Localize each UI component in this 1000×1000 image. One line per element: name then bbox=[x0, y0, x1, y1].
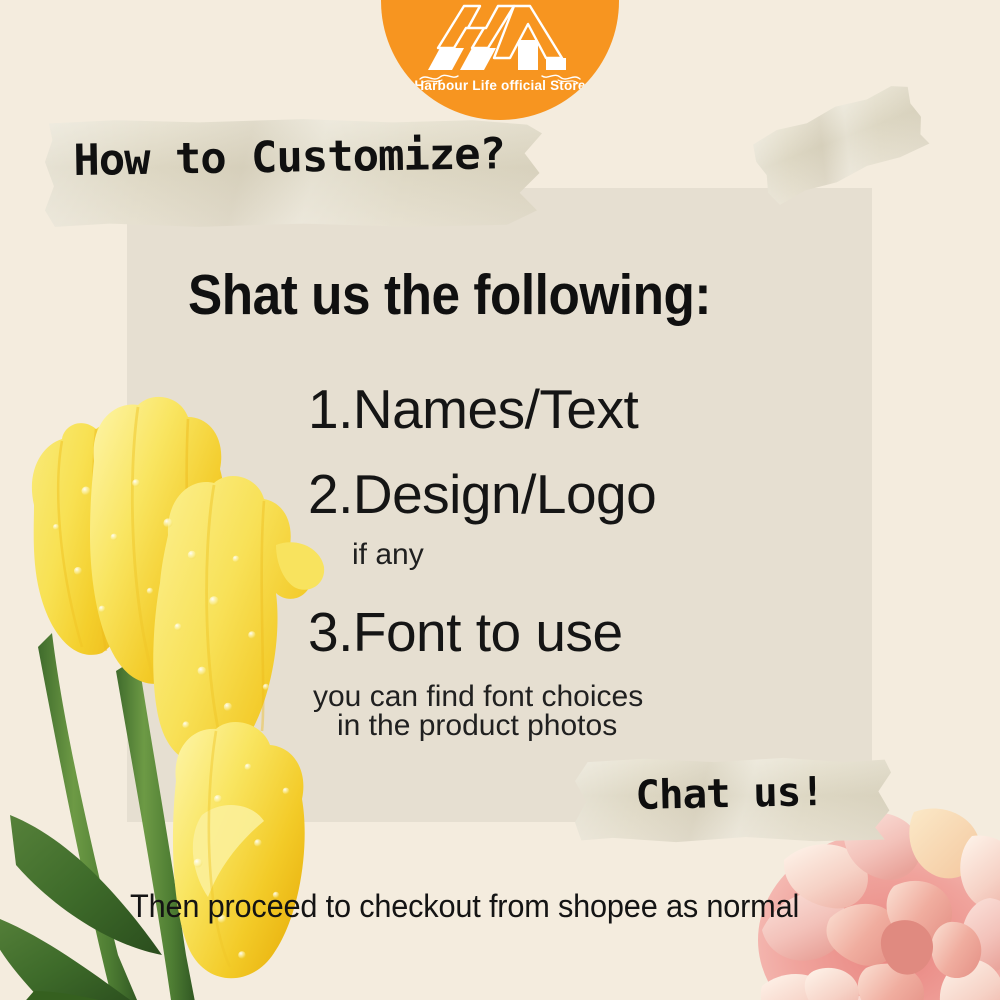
list-item: 1.Names/Text bbox=[308, 377, 638, 441]
subheading: Shat us the following: bbox=[188, 262, 711, 328]
washi-tape-chat[interactable]: Chat us! bbox=[575, 757, 891, 843]
list-item: 2.Design/Logo bbox=[308, 462, 656, 526]
promo-graphic-canvas: Harbour Life official Store How to Custo… bbox=[0, 0, 1000, 1000]
chat-us-label: Chat us! bbox=[635, 769, 824, 819]
list-item: 3.Font to use bbox=[308, 600, 623, 664]
footer-note: Then proceed to checkout from shopee as … bbox=[130, 888, 799, 925]
brand-logo-badge: Harbour Life official Store bbox=[381, 0, 619, 120]
store-name-label: Harbour Life official Store bbox=[381, 78, 619, 93]
list-item-note: if any bbox=[352, 538, 424, 572]
list-item-note: in the product photos bbox=[337, 709, 617, 743]
page-title: How to Customize? bbox=[73, 129, 505, 186]
washi-tape-title: How to Customize? bbox=[45, 118, 542, 228]
harbour-life-monogram-icon bbox=[424, 0, 576, 74]
